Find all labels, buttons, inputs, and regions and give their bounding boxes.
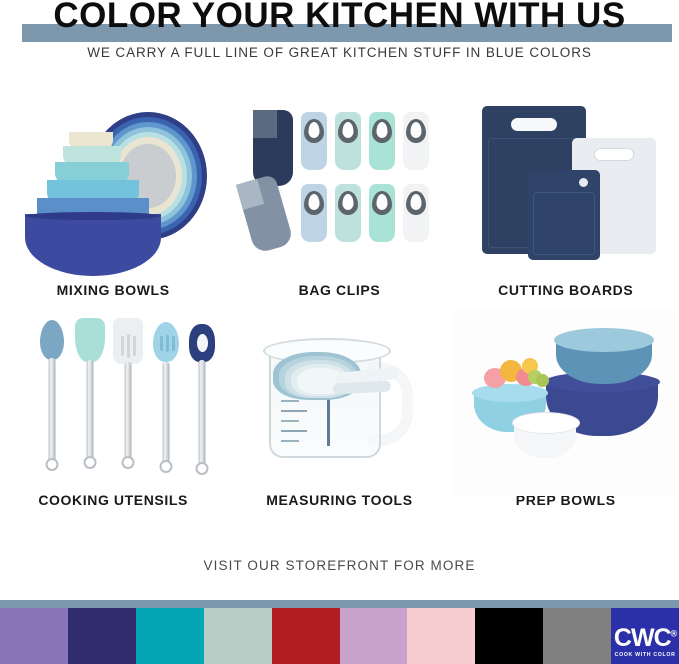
- product-cell-measuring-tools[interactable]: MEASURING TOOLS: [226, 298, 452, 508]
- footer-accent-bar: [0, 600, 679, 608]
- registered-icon: ®: [671, 628, 677, 638]
- page-subtitle: WE CARRY A FULL LINE OF GREAT KITCHEN ST…: [0, 44, 679, 62]
- bag-clip-large-navy: [253, 110, 293, 186]
- brand-logo-swatch[interactable]: CWC® COOK WITH COLOR: [611, 608, 679, 664]
- color-swatch-pink: [407, 608, 475, 664]
- product-cell-prep-bowls[interactable]: PREP BOWLS: [453, 298, 679, 508]
- bag-clip: [335, 112, 361, 170]
- color-swatch-black: [475, 608, 543, 664]
- mixing-bowls-image: [0, 88, 226, 278]
- storefront-cta[interactable]: VISIT OUR STOREFRONT FOR MORE: [0, 558, 679, 573]
- bag-clip-gray: [236, 173, 294, 253]
- bag-clips-image: [226, 88, 452, 278]
- product-cell-mixing-bowls[interactable]: MIXING BOWLS: [0, 88, 226, 298]
- fruit-garnish: [536, 374, 549, 387]
- color-swatch-orchid: [340, 608, 408, 664]
- product-label: CUTTING BOARDS: [453, 282, 679, 298]
- product-label: MIXING BOWLS: [0, 282, 226, 298]
- product-cell-cutting-boards[interactable]: CUTTING BOARDS: [453, 88, 679, 298]
- bag-clip: [301, 184, 327, 242]
- prep-bowl-white-lid: [512, 412, 580, 434]
- header: COLOR YOUR KITCHEN WITH US WE CARRY A FU…: [0, 0, 679, 72]
- product-row-1: MIXING BOWLS: [0, 88, 679, 298]
- page-title: COLOR YOUR KITCHEN WITH US: [0, 0, 679, 36]
- bag-clip: [369, 112, 395, 170]
- product-label: COOKING UTENSILS: [0, 492, 226, 508]
- product-label: BAG CLIPS: [226, 282, 452, 298]
- prep-bowls-image: [453, 298, 679, 488]
- color-swatch-red: [272, 608, 340, 664]
- color-swatch-gray: [543, 608, 611, 664]
- bag-clip: [335, 184, 361, 242]
- cutting-board-medium-navy: [528, 170, 600, 260]
- product-cell-cooking-utensils[interactable]: COOKING UTENSILS: [0, 298, 226, 508]
- color-swatch-teal: [136, 608, 204, 664]
- prep-bowl-light-blue-rim: [472, 384, 548, 402]
- brand-logo: CWC® COOK WITH COLOR: [611, 626, 679, 658]
- flyer-page: COLOR YOUR KITCHEN WITH US WE CARRY A FU…: [0, 0, 679, 664]
- product-cell-bag-clips[interactable]: BAG CLIPS: [226, 88, 452, 298]
- bag-clip: [403, 112, 429, 170]
- color-swatch-sage: [204, 608, 272, 664]
- bag-clip: [403, 184, 429, 242]
- measuring-cup: [261, 328, 411, 458]
- prep-bowl-blue-lid: [554, 328, 654, 352]
- product-label: MEASURING TOOLS: [226, 492, 452, 508]
- bag-clip: [301, 112, 327, 170]
- product-row-2: COOKING UTENSILS: [0, 298, 679, 508]
- logo-wordmark: CWC®: [611, 626, 679, 651]
- product-grid: MIXING BOWLS: [0, 88, 679, 508]
- cutting-boards-image: [453, 88, 679, 278]
- logo-mark-text: CWC: [614, 624, 671, 652]
- cooking-utensils-image: [0, 298, 226, 488]
- bag-clip: [369, 184, 395, 242]
- color-swatch-purple: [0, 608, 68, 664]
- logo-tagline: COOK WITH COLOR: [611, 653, 679, 658]
- nested-bowls: [23, 132, 163, 252]
- color-swatch-strip: CWC® COOK WITH COLOR: [0, 608, 679, 664]
- measuring-tools-image: [226, 298, 452, 488]
- color-swatch-navy: [68, 608, 136, 664]
